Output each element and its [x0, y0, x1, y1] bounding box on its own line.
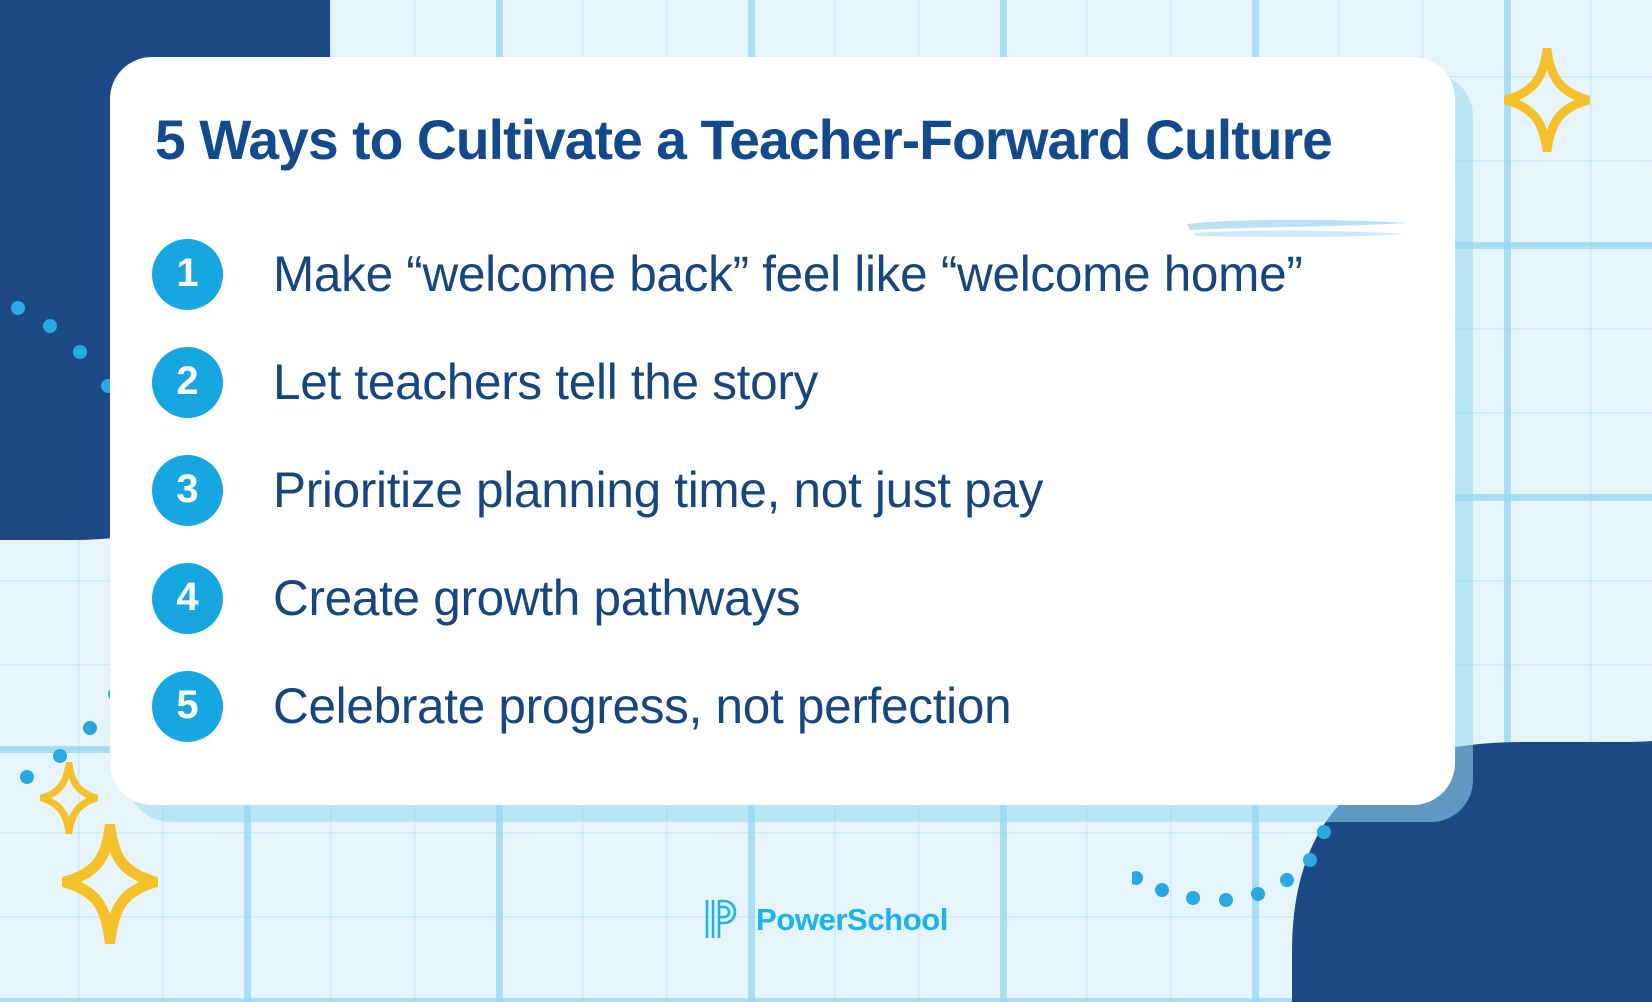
list-item-label: Create growth pathways — [273, 569, 800, 627]
list-item-label: Celebrate progress, not perfection — [273, 677, 1011, 735]
list-item: 2 Let teachers tell the story — [152, 328, 1415, 436]
list-number-badge: 4 — [152, 563, 223, 634]
list-number-badge: 1 — [152, 239, 223, 310]
sparkle-icon — [1504, 48, 1590, 152]
list-item: 5 Celebrate progress, not perfection — [152, 652, 1415, 760]
powerschool-logo: PowerSchool — [704, 898, 948, 940]
list-number-badge: 2 — [152, 347, 223, 418]
list-item: 1 Make “welcome back” feel like “welcome… — [152, 220, 1415, 328]
page-title: 5 Ways to Cultivate a Teacher-Forward Cu… — [155, 111, 1396, 170]
brand-name: PowerSchool — [756, 904, 948, 935]
list-number-badge: 5 — [152, 671, 223, 742]
infographic-canvas: 5 Ways to Cultivate a Teacher-Forward Cu… — [0, 0, 1652, 1002]
title-block: 5 Ways to Cultivate a Teacher-Forward Cu… — [155, 111, 1415, 170]
tips-list: 1 Make “welcome back” feel like “welcome… — [152, 220, 1415, 760]
powerschool-p-icon — [704, 898, 744, 940]
list-item-label: Make “welcome back” feel like “welcome h… — [273, 245, 1303, 303]
sparkle-icon — [62, 824, 158, 944]
list-item-label: Prioritize planning time, not just pay — [273, 461, 1043, 519]
content-card: 5 Ways to Cultivate a Teacher-Forward Cu… — [110, 57, 1455, 805]
list-item: 3 Prioritize planning time, not just pay — [152, 436, 1415, 544]
list-item: 4 Create growth pathways — [152, 544, 1415, 652]
list-number-badge: 3 — [152, 455, 223, 526]
list-item-label: Let teachers tell the story — [273, 353, 818, 411]
